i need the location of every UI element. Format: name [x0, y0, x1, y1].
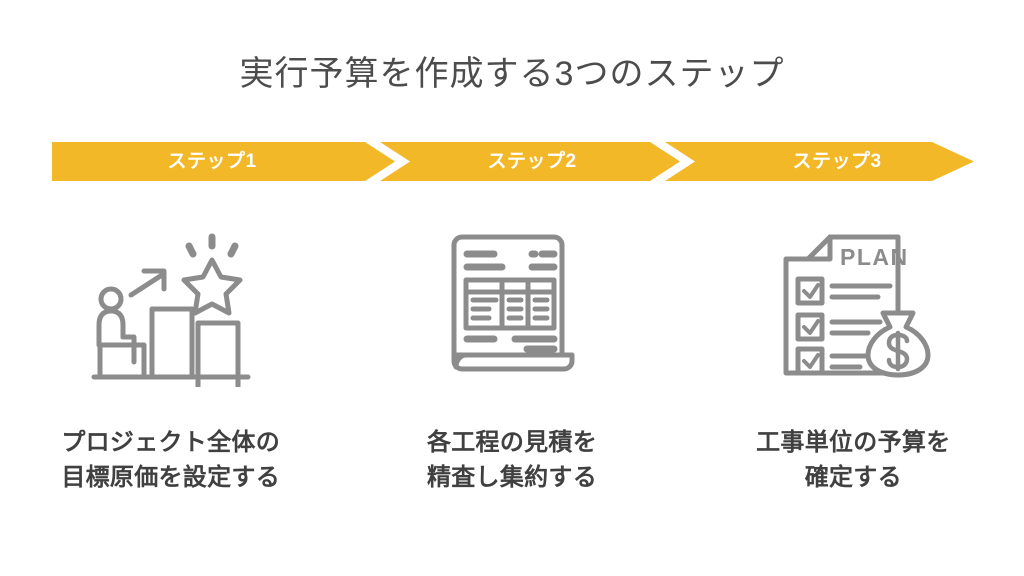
table-cell-lines: [473, 300, 547, 318]
growth-chart-star-svg: [86, 227, 256, 387]
caption-line: プロジェクト全体の: [61, 426, 280, 461]
checklist-lines-2: [832, 322, 880, 333]
doc-header-lines: [467, 254, 554, 267]
caption-line: 確定する: [756, 461, 950, 496]
plan-checklist-money-svg: PLAN: [768, 227, 938, 387]
table-icon: [466, 280, 554, 328]
bar-1: [100, 345, 144, 377]
step-column-1: プロジェクト全体の 目標原価を設定する: [0, 222, 341, 495]
estimate-document-svg: [432, 227, 592, 387]
estimate-document-icon: [412, 222, 612, 392]
caption-line: 精査し集約する: [427, 461, 597, 496]
up-arrow-icon: [131, 271, 164, 295]
growth-chart-star-icon: [71, 222, 271, 392]
plan-checklist-money-icon: PLAN: [753, 222, 953, 392]
bar-2: [152, 309, 192, 377]
step-label-1: ステップ1: [52, 142, 372, 181]
doc-footer-lines: [467, 339, 554, 349]
checklist-lines-1: [832, 286, 890, 297]
checkbox-checked-icon: [798, 279, 822, 303]
star-icon: [184, 260, 240, 313]
person-icon: [99, 289, 134, 362]
checklist-lines-3: [832, 356, 868, 367]
step-column-2: 各工程の見積を 精査し集約する: [341, 222, 682, 495]
step-labels: ステップ1 ステップ2 ステップ3: [52, 142, 974, 181]
sparkle-icon: [189, 237, 235, 254]
steps-columns: プロジェクト全体の 目標原価を設定する: [0, 222, 1024, 495]
caption-line: 目標原価を設定する: [61, 461, 280, 496]
step-column-3: PLAN: [683, 222, 1024, 495]
plan-label: PLAN: [840, 244, 909, 270]
step-caption-3: 工事単位の予算を 確定する: [756, 426, 950, 495]
step-flow-banner: ステップ1 ステップ2 ステップ3: [52, 142, 974, 181]
checkbox-checked-icon: [798, 315, 822, 339]
step-label-2: ステップ2: [382, 142, 682, 181]
curled-page-icon: [454, 355, 572, 369]
page-title: 実行予算を作成する3つのステップ: [0, 54, 1024, 95]
caption-line: 各工程の見積を: [427, 426, 597, 461]
step-caption-2: 各工程の見積を 精査し集約する: [427, 426, 597, 495]
checkbox-checked-icon: [798, 349, 822, 373]
caption-line: 工事単位の予算を: [756, 426, 950, 461]
curl-detail: [456, 355, 466, 367]
step-label-3: ステップ3: [692, 142, 982, 181]
step-caption-1: プロジェクト全体の 目標原価を設定する: [61, 426, 280, 495]
